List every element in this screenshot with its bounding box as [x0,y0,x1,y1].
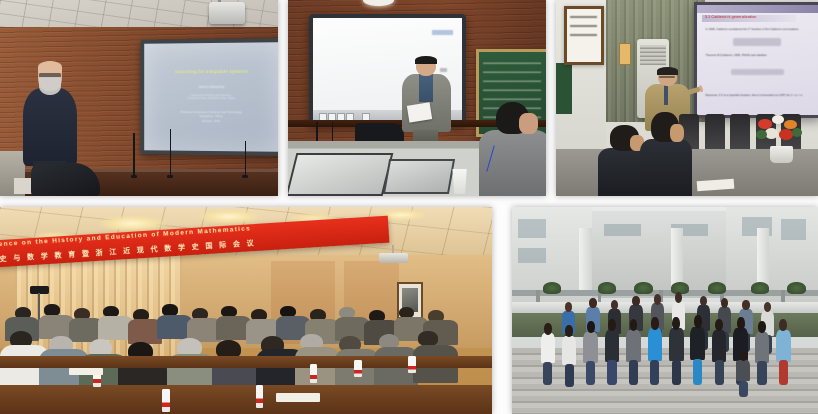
person-head [565,302,572,311]
photo-group-on-steps[interactable] [512,207,818,414]
slide-presenter-name: Jarmo Hietarinta [152,85,271,89]
microphone-stand [332,122,333,142]
group-member [540,323,557,385]
person-torso [648,328,663,361]
seated-attendee [479,102,546,196]
group-member [625,319,642,385]
slide-affiliation: Department of Physics and Astronomy Univ… [152,94,271,101]
slide-equation [733,38,781,46]
window [518,219,546,238]
person-legs [586,361,595,385]
window [604,224,641,236]
microphone-stand [170,129,171,176]
audience-head [418,331,438,346]
slide-section-header: 3.1 Calderón's generalization [702,15,796,22]
seated-attendee [640,112,692,196]
person-head [740,352,748,361]
glasses-icon [659,76,675,79]
slide-bullet-1: In 1965, Calderón considered the 1ˢᵗ ite… [706,27,807,32]
person-head [632,296,639,306]
slide-bullet-3: Moreover, if U is a Lipschitz function, … [706,93,807,98]
pillar [579,228,591,294]
desk-monitor [288,153,393,196]
person-torso [605,330,620,362]
group-member [561,325,578,387]
slide-header-text: 3.1 Calderón's generalization [705,14,757,19]
projection-screen: Searching for integrable systems Jarmo H… [140,38,278,156]
person-head [565,325,573,337]
group-member [775,319,792,385]
attendee-face [670,124,684,143]
document [276,393,320,401]
group-member [754,321,771,385]
group-member [582,321,599,385]
person-legs [779,360,788,385]
planter-shrub [751,282,769,294]
flower-arrangement [755,114,807,163]
person-legs [629,360,638,385]
desk-monitor [383,159,455,194]
framed-calligraphy [564,6,604,65]
person-head [587,321,595,333]
person-head [608,319,616,332]
person-legs [757,361,766,385]
water-bottle [256,385,263,408]
speaker-beard [39,77,61,95]
microphone-stand [316,122,317,142]
document [69,368,103,374]
slide-venue: Zhejiang University of Science and Techn… [152,110,271,124]
person-head [611,300,618,310]
photo-lecture-hall-speaker[interactable]: Searching for integrable systems Jarmo H… [0,0,278,196]
slide-top-band [697,5,818,13]
person-head [694,315,702,328]
desk-row [0,356,492,368]
foliage [792,128,802,137]
attendee-face [519,113,538,134]
ac-vent [640,45,666,65]
foliage [756,130,766,139]
person-head [651,317,659,330]
person-torso [736,360,750,382]
person-torso [562,336,577,366]
calligraphy-strokes [570,15,597,36]
group-member [604,319,621,385]
group-member [668,317,685,385]
window [781,219,805,240]
group-member [647,317,664,385]
vase [770,146,793,163]
video-camera-icon [30,286,50,294]
planter-shrub [787,282,805,294]
slide-affiliation-line-2: University of Turku, FIN-20014 Turku, Fi… [152,97,271,101]
water-bottle [310,364,317,383]
presenter-hair [415,56,437,64]
lecturer-tie [664,85,668,105]
person-head [700,296,707,306]
microphone-stand [133,133,134,176]
person-torso [755,332,770,363]
person-legs [715,360,724,385]
person-head [544,323,552,335]
person-torso [669,328,684,361]
water-bottle [354,360,361,377]
window [518,248,546,262]
bag-on-table [31,163,101,196]
person-legs [672,360,681,385]
presenter-shirt [419,74,433,102]
desk-row [0,385,492,414]
person-legs [543,362,552,385]
person-torso [712,330,727,362]
ceiling-light [197,209,261,223]
speaker-torso [23,88,76,166]
group-member [689,315,706,385]
person-head [654,294,661,305]
person-torso [776,330,791,362]
slide-date: 28 April, 2016 [152,119,271,124]
speaker-hairline [38,61,62,73]
ceiling-projector-icon [209,2,245,24]
slide-equation [731,69,784,76]
photo-seminar-lecturer[interactable]: 3.1 Calderón's generalization In 1965, C… [556,0,818,196]
wall-switch [619,43,631,65]
person-torso [690,327,705,361]
ceiling-projector-icon [379,253,409,263]
group-member [711,319,728,385]
lecturer-hair [657,67,678,75]
planter-shrub [634,282,652,294]
slide-title: Searching for integrable systems [152,69,271,75]
planter-shrub [598,282,616,294]
concrete-steps [512,348,818,414]
person-legs [650,360,659,385]
planter-shrub [708,282,726,294]
photo-whiteboard-presenter[interactable] [288,0,546,196]
person-legs [607,360,616,385]
person-head [764,302,771,312]
person-head [672,317,680,330]
audience-head [162,304,177,315]
standing-presenter [402,57,451,151]
flower [779,129,793,140]
person-legs [693,359,702,385]
attendee-torso [640,139,692,196]
handout-papers [407,102,432,122]
group-member-seated [735,352,751,398]
audience-head [44,304,60,315]
microphone-stand [245,141,246,176]
water-bottle [408,356,415,373]
projected-slide: 3.1 Calderón's generalization In 1965, C… [694,2,818,118]
photo-conference-audience[interactable]: ence on the History and Education of Mod… [0,207,492,414]
person-legs [739,381,748,398]
planter-shrub [543,282,561,294]
person-torso [583,332,598,363]
water-bottle [162,389,169,412]
person-head [737,317,745,330]
person-head [758,321,766,333]
person-torso [541,333,556,363]
whiteboard-writing [432,30,453,35]
slide-bullet-2: Theorem B (Calderón, 1965, PNAS) and sat… [706,53,807,58]
person-legs [565,364,574,387]
photo-collage: Searching for integrable systems Jarmo H… [0,0,818,414]
person-head [742,300,749,310]
side-chalkboard [556,63,572,114]
person-torso [626,330,641,362]
flower [772,115,785,125]
person-head [589,298,596,308]
